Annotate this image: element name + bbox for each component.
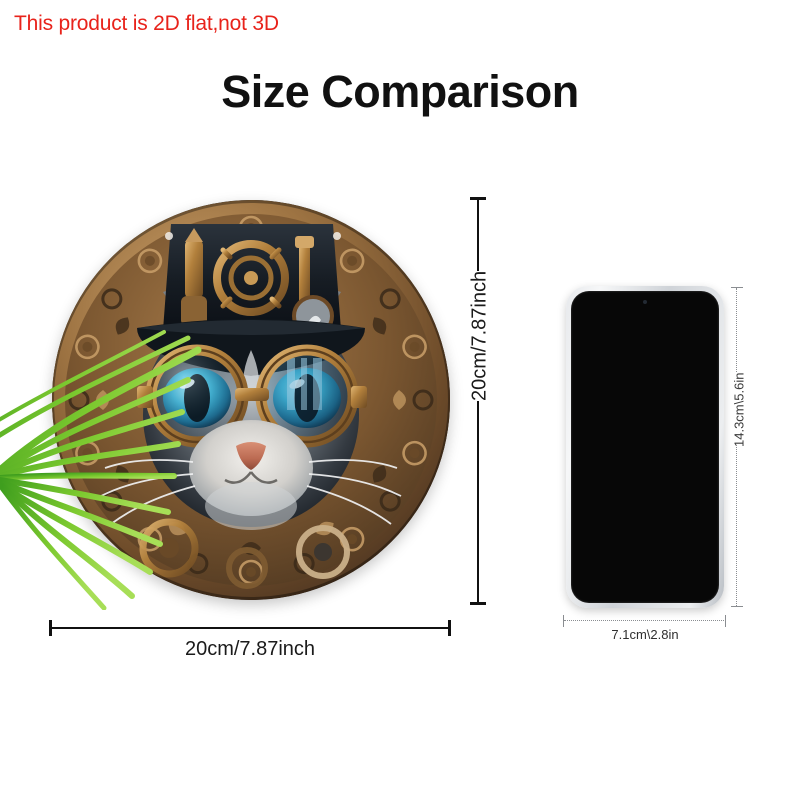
dimension-bar [564,620,726,621]
dimension-bar [736,288,737,606]
phone-height-dimension: 14.3cm\5.6in [730,286,744,608]
phone-width-dimension: 7.1cm\2.8in [562,614,728,628]
steampunk-cat-artwork [52,200,450,600]
product-width-dimension: 20cm/7.87inch [48,620,452,638]
steampunk-cat-round-sign [52,200,450,600]
flat-product-warning: This product is 2D flat,not 3D [14,12,279,35]
dimension-cap-top [731,287,743,288]
reference-smartphone [566,286,724,608]
phone-screen [571,291,719,603]
product-width-label: 20cm/7.87inch [48,638,452,661]
product-height-dimension: 20cm/7.87inch [470,196,486,606]
product-height-label: 20cm/7.87inch [467,271,494,401]
product-image-container [52,200,450,600]
page-title: Size Comparison [0,66,800,118]
size-comparison-canvas: This product is 2D flat,not 3D Size Comp… [0,0,800,800]
dimension-cap-right [448,620,451,636]
dimension-cap-bottom [470,602,486,605]
phone-body [566,286,724,608]
phone-front-camera-icon [643,300,647,304]
dimension-bar [51,627,449,629]
dimension-bar [477,199,479,603]
dimension-cap-left [563,615,564,627]
dimension-cap-right [725,615,726,627]
phone-height-label: 14.3cm\5.6in [731,373,748,447]
dimension-cap-bottom [731,606,743,607]
phone-width-label: 7.1cm\2.8in [562,627,728,642]
